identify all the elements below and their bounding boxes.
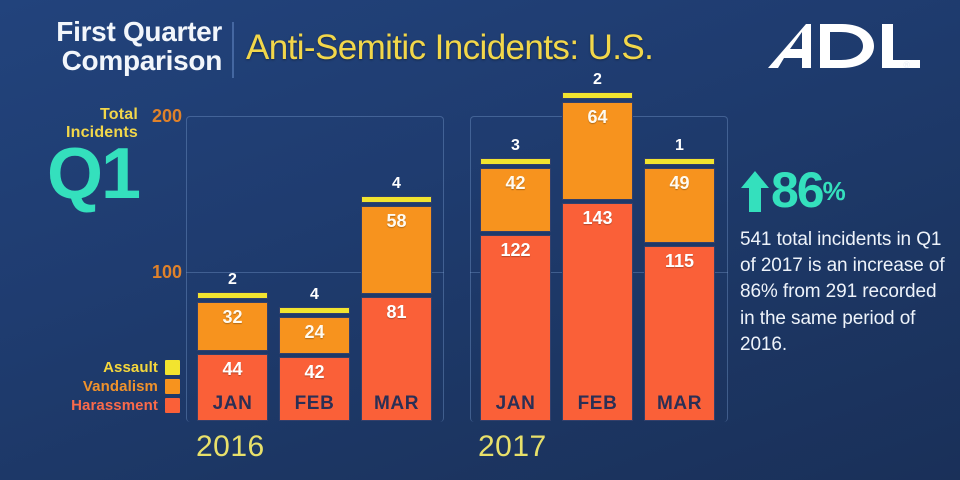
legend-swatch-harassment [165,398,180,413]
adl-logo: ® [762,18,932,80]
segment-harassment: 81MAR [361,297,432,421]
legend-label-harassment: Harassment [71,397,158,414]
total-label-line1: Total [18,106,138,124]
y-axis-tick-100: 100 [138,262,182,283]
y-axis-tick-200: 200 [138,106,182,127]
header-kicker: First Quarter Comparison [22,18,222,75]
segment-assault [562,92,633,99]
legend-label-vandalism: Vandalism [83,378,158,395]
value-vandalism: 24 [280,322,349,343]
month-label: FEB [563,393,632,415]
value-assault: 4 [279,286,350,304]
infographic-canvas: First Quarter Comparison Anti-Semitic In… [0,0,960,480]
segment-vandalism: 64 [562,102,633,200]
value-harassment: 42 [280,362,349,383]
value-vandalism: 42 [481,173,550,194]
value-assault: 2 [197,271,268,289]
increase-callout: 86 % 541 total incidents in Q1 of 2017 i… [740,168,946,358]
legend-item-assault: Assault [10,358,180,377]
value-harassment: 143 [563,208,632,229]
quarter-label: Q1 [24,140,139,208]
segment-harassment: 143FEB [562,203,633,421]
bar-2017-mar: 49115MAR [644,158,715,421]
registered-mark: ® [903,60,910,70]
legend-swatch-assault [165,360,180,375]
legend-item-vandalism: Vandalism [10,377,180,396]
segment-vandalism: 32 [197,302,268,351]
segment-harassment: 44JAN [197,354,268,421]
segment-assault [197,292,268,299]
segment-assault [361,196,432,203]
segment-vandalism: 58 [361,206,432,294]
value-vandalism: 49 [645,173,714,194]
segment-harassment: 42FEB [279,357,350,421]
value-assault: 4 [361,175,432,193]
value-harassment: 44 [198,359,267,380]
value-vandalism: 64 [563,107,632,128]
month-label: JAN [481,393,550,415]
segment-vandalism: 49 [644,168,715,243]
segment-vandalism: 24 [279,317,350,354]
value-harassment: 81 [362,302,431,323]
year-label-2016: 2016 [196,430,265,464]
page-title: Anti-Semitic Incidents: U.S. [246,28,653,68]
value-vandalism: 32 [198,307,267,328]
segment-assault [480,158,551,165]
value-harassment: 122 [481,240,550,261]
year-label-2017: 2017 [478,430,547,464]
header-divider [232,22,234,78]
bar-2016-mar: 5881MAR [361,196,432,421]
legend-item-harassment: Harassment [10,396,180,415]
header-kicker-line2: Comparison [22,47,222,76]
callout-body-text: 541 total incidents in Q1 of 2017 is an … [740,227,946,358]
month-label: MAR [645,393,714,415]
value-assault: 3 [480,137,551,155]
legend: Assault Vandalism Harassment [10,358,180,415]
month-label: MAR [362,393,431,415]
value-assault: 2 [562,71,633,89]
month-label: FEB [280,393,349,415]
legend-swatch-vandalism [165,379,180,394]
segment-assault [279,307,350,314]
bar-2016-jan: 3244JAN [197,292,268,421]
bar-2017-feb: 64143FEB [562,92,633,421]
segment-assault [644,158,715,165]
month-label: JAN [198,393,267,415]
bar-2017-jan: 42122JAN [480,158,551,421]
percent-increase: 86 % [740,168,946,213]
legend-label-assault: Assault [103,359,158,376]
segment-vandalism: 42 [480,168,551,232]
percent-symbol: % [823,180,846,213]
up-arrow-icon [740,169,770,213]
value-vandalism: 58 [362,211,431,232]
value-assault: 1 [644,137,715,155]
header-kicker-line1: First Quarter [22,18,222,47]
segment-harassment: 115MAR [644,246,715,421]
value-harassment: 115 [645,251,714,272]
segment-harassment: 122JAN [480,235,551,421]
bar-2016-feb: 2442FEB [279,307,350,421]
percent-value: 86 [771,168,823,213]
